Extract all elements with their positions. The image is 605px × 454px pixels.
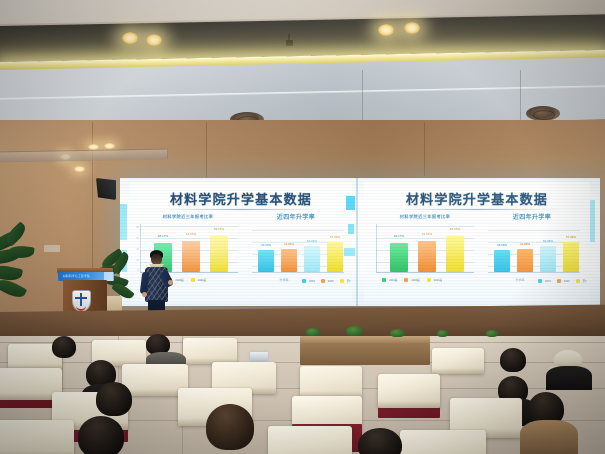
legend-swatch-r0 <box>302 279 306 283</box>
chart-right-bar-0 <box>258 250 274 272</box>
legend-swatch-cr0 <box>538 279 542 283</box>
ceiling-spotlight-4 <box>404 22 420 34</box>
chart-right-legend-copy: 2019 2020 至2 <box>538 279 587 283</box>
wall-mounted-speaker <box>96 178 116 200</box>
legend-label-c1: 2020届 <box>411 278 419 282</box>
chart-right-title: 近四年升学率 <box>248 212 344 221</box>
ceiling-spotlight-3 <box>378 24 394 36</box>
legend-label-cr1: 2020 <box>564 280 570 283</box>
chart-right-title-copy: 近四年升学率 <box>484 212 580 221</box>
legend-label-cr0: 2019 <box>545 280 551 283</box>
ceiling-spotlight-1 <box>122 32 138 44</box>
legend-swatch-r1 <box>321 279 325 283</box>
screen-artifact-4 <box>120 204 127 240</box>
slide-title-left: 材料学院升学基本数据 <box>130 189 352 208</box>
seat-r1-c[interactable] <box>183 338 237 364</box>
chart-left-ytick-3: 60 <box>132 237 139 240</box>
presentation-photo: 材料学院升学基本数据 材料学院近三年报考比率 0 20 40 60 80 68.… <box>0 0 605 454</box>
chart-right-plot-copy: 43.10% 44.85% 50.96% 57.99% <box>488 226 580 278</box>
chart-left-bar-label-0: 68.17% <box>149 234 177 238</box>
audience-head-r4-c <box>358 428 402 454</box>
chart-left-bar-2 <box>210 236 228 272</box>
seat-r2-e[interactable] <box>378 374 440 408</box>
legend-label-c2: 2021届 <box>434 278 442 282</box>
chart-left-bar-label-2: 83.25% <box>205 227 233 231</box>
ceiling-spotlight-2 <box>146 34 162 46</box>
seat-r4-b[interactable] <box>268 426 352 454</box>
legend-label-r1: 2020 <box>328 280 334 283</box>
podium-banner-text: 材料科学与工程学院 <box>63 274 90 278</box>
audience-shoulders-cap <box>546 366 592 390</box>
audience-laptop-1 <box>250 352 268 361</box>
legend-label-c0: 2019届 <box>389 278 397 282</box>
speaker-hand-right <box>168 280 173 285</box>
chart-left-bar-copy-1 <box>418 241 436 272</box>
chart-left-bar-label-copy-1: 72.57% <box>413 232 441 236</box>
chart-right-axis-caption: 升学率 <box>268 278 300 282</box>
ledge-plant-4 <box>437 330 448 337</box>
chart-right-bar-label-3: 57.99% <box>322 235 348 239</box>
chart-left-bar-copy-2 <box>446 236 464 272</box>
chart-left-plot-copy: 68.17% 72.57% 83.25% <box>376 224 474 278</box>
wall-downlight-4 <box>74 166 85 172</box>
chart-right-bar-label-2: 50.96% <box>299 239 325 243</box>
ledge-plant-3 <box>390 329 405 337</box>
legend-swatch-r2 <box>340 279 344 283</box>
chart-left-bar-1 <box>182 241 200 272</box>
chart-right-bar-copy-1 <box>517 249 533 272</box>
chart-right-bar-1 <box>281 249 297 272</box>
chart-left-legend-copy: 2019届 2020届 2021届 <box>382 278 442 282</box>
chart-right-plot: 43.10% 44.85% 50.96% 57.99% <box>252 226 344 278</box>
wall-downlight-2 <box>104 143 115 149</box>
legend-swatch-c1 <box>404 278 408 282</box>
slide-title-rule-left <box>158 209 324 210</box>
screen-artifact-6 <box>590 200 595 242</box>
ceiling-speaker-vent-2 <box>526 106 560 121</box>
ledge-plant-5 <box>486 330 498 337</box>
wall-seam-3 <box>424 122 425 176</box>
potted-plant-left <box>0 228 50 318</box>
audience-head-r1-d <box>500 348 526 372</box>
chart-right-bar-copy-0 <box>494 250 510 272</box>
audience-head-r4-b <box>206 404 254 450</box>
seat-r1-d[interactable] <box>432 348 484 374</box>
screen-artifact-1 <box>346 196 355 210</box>
audience-head-r1-a <box>52 336 76 358</box>
legend-swatch-cr1 <box>557 279 561 283</box>
audience-head-r3-a <box>96 382 132 416</box>
speaker-hand-left <box>142 292 147 297</box>
seat-r4-a[interactable] <box>0 420 74 454</box>
chart-right-bar-label-copy-3: 57.99% <box>558 235 584 239</box>
chart-right-bar-copy-2 <box>540 246 556 272</box>
chart-right-bar-label-copy-2: 50.96% <box>535 239 561 243</box>
slide-panel-right: 材料学院升学基本数据 材料学院近三年报考比率 68.17% 72.57% 83.… <box>364 182 590 302</box>
slide-title-rule-right <box>394 209 562 210</box>
chart-left-bar-label-copy-2: 83.25% <box>441 227 469 231</box>
chart-left-bar-label-1: 72.57% <box>177 232 205 236</box>
legend-label-r0: 2019 <box>309 280 315 283</box>
seat-r2-d[interactable] <box>300 366 362 398</box>
audience-head-r4-a <box>78 416 124 454</box>
chart-left-title: 材料学院近三年报考比率 <box>136 214 240 220</box>
ledge-plant-1 <box>306 328 320 336</box>
audience-shoulders-r3-d <box>520 420 578 454</box>
screen-panel-divider <box>356 178 358 306</box>
wall-seam-2 <box>206 122 207 178</box>
legend-label-2: 2021届 <box>198 278 206 282</box>
screen-artifact-2 <box>348 224 354 234</box>
chart-right-legend: 2019 2020 至2 <box>302 279 351 283</box>
crest-ribbon <box>76 304 86 311</box>
led-video-wall[interactable]: 材料学院升学基本数据 材料学院近三年报考比率 0 20 40 60 80 68.… <box>120 178 600 306</box>
legend-label-cr2: 至2 <box>583 279 587 283</box>
desk-front-back <box>300 343 430 365</box>
ceiling-hanger-fixture <box>286 40 293 46</box>
university-crest-icon <box>72 290 91 312</box>
legend-swatch-c2 <box>427 278 431 282</box>
speaker-head <box>151 254 162 265</box>
legend-swatch-c0 <box>382 278 386 282</box>
screen-artifact-3 <box>344 248 355 256</box>
legend-label-r2: 至2 <box>347 279 351 283</box>
chart-right-bar-2 <box>304 246 320 272</box>
slide-title-right: 材料学院升学基本数据 <box>364 189 590 208</box>
chart-left-title-copy: 材料学院近三年报考比率 <box>372 214 478 220</box>
chart-right-bar-copy-3 <box>563 242 579 272</box>
ledge-plant-2 <box>346 326 363 336</box>
chart-right-axis-caption-copy: 升学率 <box>504 278 536 282</box>
legend-swatch-2 <box>191 278 195 282</box>
legend-swatch-cr2 <box>576 279 580 283</box>
chart-left-ytick-4: 80 <box>132 226 139 229</box>
chart-left-bar-copy-0 <box>390 243 408 272</box>
chart-left-bar-label-copy-0: 68.17% <box>385 234 413 238</box>
seat-r4-c[interactable] <box>400 430 486 454</box>
chart-right-bar-3 <box>327 242 343 272</box>
